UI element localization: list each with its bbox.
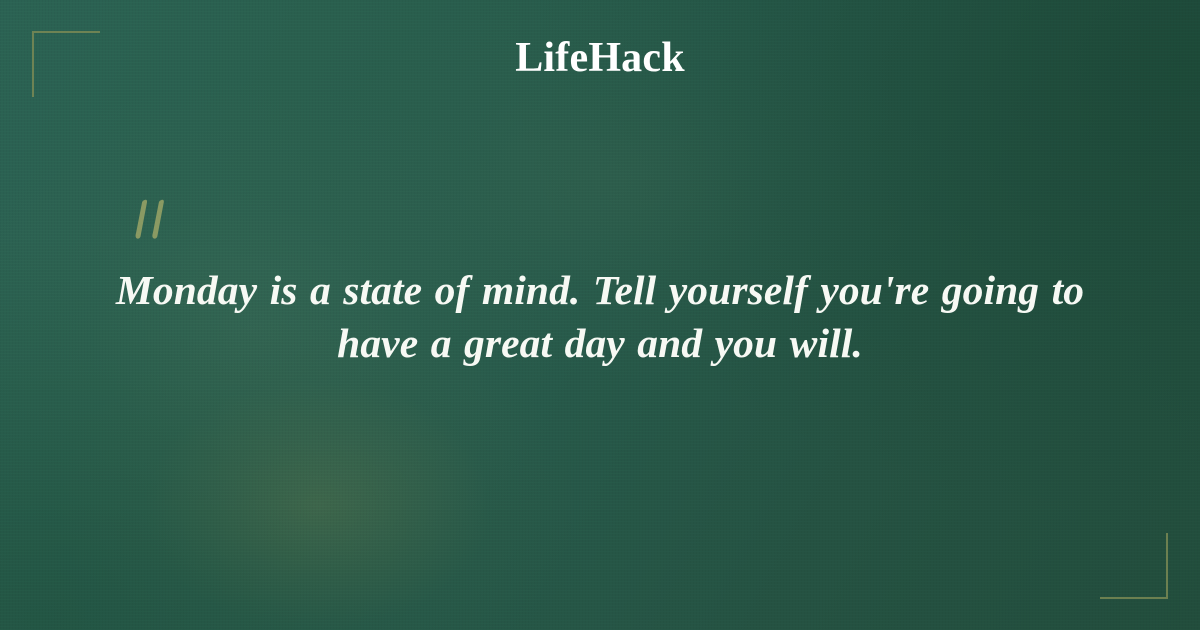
quote-mark-icon [130,198,176,246]
quote-block: Monday is a state of mind. Tell yourself… [85,264,1115,370]
quote-text: Monday is a state of mind. Tell yourself… [85,264,1115,370]
quote-card: LifeHack Monday is a state of mind. Tell… [0,0,1200,630]
lifehack-logo: LifeHack [0,37,1200,79]
corner-bracket-bottom-right-icon [1100,533,1168,599]
